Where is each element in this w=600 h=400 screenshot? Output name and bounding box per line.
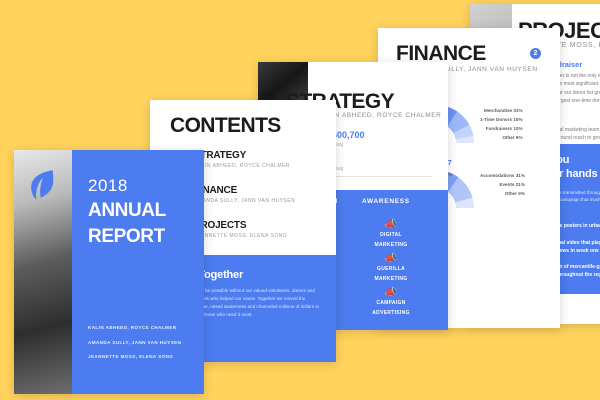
legend-entry: Events 21% (480, 182, 525, 187)
cover-title-line2: REPORT (88, 226, 188, 248)
contents-title: CONTENTS (170, 114, 281, 138)
list-item[interactable]: FINANCE AMANDA SULLY, JANN VAN HUYSEN (194, 185, 295, 204)
megaphone-icon: 📣 (358, 288, 424, 298)
contents-list: STRATEGY KALIN ABHEED, ROYCE CHALMER FIN… (194, 150, 295, 255)
cover-year: 2018 (88, 176, 188, 196)
legend-entry: Other 9% (480, 191, 525, 196)
contents-item-sub: JEANNETTE MOSS, ELENA SONG (194, 233, 295, 239)
contents-item-sub: KALIN ABHEED, ROYCE CHALMER (194, 163, 295, 169)
contents-item-sub: AMANDA SULLY, JANN VAN HUYSEN (194, 198, 295, 204)
megaphone-icon: 📣 (358, 254, 424, 264)
strategy-channel: 📣 GUERILLA MARKETING (358, 254, 424, 283)
contents-item-label: PROJECTS (194, 220, 295, 231)
expenses-chart-legend: Accomodations 31% Events 21% Other 9% (480, 170, 525, 200)
strategy-subtitle: KALIN ABHEED, ROYCE CHALMER (318, 112, 441, 119)
cover-author: JEANNETTE MOSS, ELENA SONG (88, 353, 181, 361)
legend-entry: Merchandise 31% (480, 108, 523, 113)
strategy-channel-line1: GUERILLA (358, 266, 424, 274)
strategy-channel-line1: CAMPAIGN (358, 300, 424, 308)
strategy-channel-line2: ADVERTISING (358, 310, 424, 318)
strategy-channel-line2: MARKETING (358, 276, 424, 284)
cover-author: KALIN ABHEED, ROYCE CHALMER (88, 324, 181, 332)
legend-entry: Other 6% (480, 135, 523, 140)
strategy-channel-line2: MARKETING (358, 242, 424, 250)
list-item[interactable]: PROJECTS JEANNETTE MOSS, ELENA SONG (194, 220, 295, 239)
cover-authors: KALIN ABHEED, ROYCE CHALMER AMANDA SULLY… (88, 324, 181, 368)
strategy-column-header: AWARENESS (362, 198, 410, 205)
megaphone-icon: 📣 (358, 220, 424, 230)
cover-author: AMANDA SULLY, JANN VAN HUYSEN (88, 339, 181, 347)
strategy-channel-line1: DIGITAL (358, 232, 424, 240)
finance-subtitle: SULLY, JANN VAN HUYSEN (441, 66, 538, 73)
cover-body: 2018 ANNUAL REPORT KALIN ABHEED, ROYCE C… (72, 150, 204, 394)
strategy-channel: 📣 CAMPAIGN ADVERTISING (358, 288, 424, 317)
finance-badge-2: 2 (530, 48, 541, 59)
slide-cover[interactable]: 2018 ANNUAL REPORT KALIN ABHEED, ROYCE C… (14, 150, 204, 394)
contents-item-label: FINANCE (194, 185, 295, 196)
leaf-icon (28, 168, 58, 202)
cover-title-line1: ANNUAL (88, 200, 188, 222)
contents-item-label: STRATEGY (194, 150, 295, 161)
funding-chart-legend: Merchandise 31% 1-Time Donors 15% Fundra… (480, 105, 523, 144)
list-item[interactable]: STRATEGY KALIN ABHEED, ROYCE CHALMER (194, 150, 295, 169)
cover-photo (14, 150, 72, 394)
legend-entry: 1-Time Donors 15% (480, 117, 523, 122)
presentation-mockup-canvas: PROJECTS JEANNETTE MOSS, ELENA SONG 3 An… (0, 0, 600, 400)
legend-entry: Fundraisers 10% (480, 126, 523, 131)
strategy-channel: 📣 DIGITAL MARKETING (358, 220, 424, 249)
legend-entry: Accomodations 31% (480, 173, 525, 178)
